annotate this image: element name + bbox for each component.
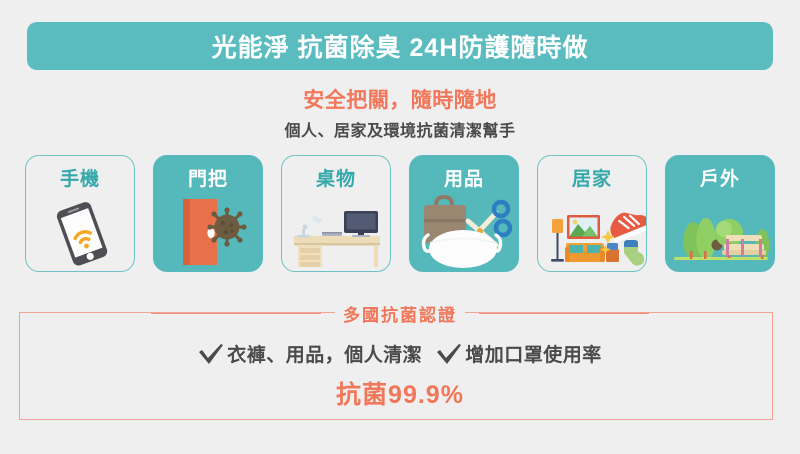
scenario-card-phone[interactable]: 手機 <box>25 155 135 272</box>
scenario-card-desk[interactable]: 桌物 <box>281 155 391 272</box>
check-item-label: 增加口罩使用率 <box>465 340 602 367</box>
desk-computer-icon <box>282 191 391 269</box>
smartphone-wifi-icon <box>26 191 135 269</box>
scenario-card-doorknob[interactable]: 門把 <box>153 155 263 272</box>
checkmark-icon <box>198 343 224 365</box>
kill-rate-text: 抗菌99.9% <box>0 375 800 411</box>
banner-title: 光能淨 抗菌除臭 24H防護隨時做 <box>212 28 589 64</box>
scenario-card-label: 用品 <box>410 164 518 191</box>
divider-line-right <box>479 313 649 315</box>
certification-divider-label: 多國抗菌認證 <box>335 301 465 326</box>
scenario-card-label: 桌物 <box>282 164 390 191</box>
scenario-card-label: 戶外 <box>666 164 774 191</box>
scenario-card-outdoor[interactable]: 戶外 <box>665 155 775 272</box>
secondary-subtitle: 個人、居家及環境抗菌清潔幫手 <box>0 117 800 141</box>
checkmark-icon <box>436 343 462 365</box>
usage-scenario-card-row: 手機 門把 <box>25 155 775 272</box>
certification-check-row: 衣褲、用品，個人清潔 增加口罩使用率 <box>0 340 800 367</box>
scenario-card-label: 門把 <box>154 164 262 191</box>
scenario-card-supplies[interactable]: 用品 <box>409 155 519 272</box>
primary-subtitle: 安全把關，隨時隨地 <box>0 84 800 114</box>
living-room-icon <box>538 191 647 269</box>
scenario-card-home[interactable]: 居家 <box>537 155 647 272</box>
bag-mask-scissors-icon <box>410 191 519 269</box>
header-banner: 光能淨 抗菌除臭 24H防護隨時做 <box>27 22 773 70</box>
check-item: 衣褲、用品，個人清潔 <box>198 340 422 367</box>
scenario-card-label: 居家 <box>538 164 646 191</box>
door-germ-icon <box>154 191 263 269</box>
divider-line-left <box>151 313 321 315</box>
check-item: 增加口罩使用率 <box>436 340 602 367</box>
park-bench-trees-icon <box>666 191 775 269</box>
infographic-page: 光能淨 抗菌除臭 24H防護隨時做 安全把關，隨時隨地 個人、居家及環境抗菌清潔… <box>0 0 800 454</box>
check-item-label: 衣褲、用品，個人清潔 <box>227 340 422 367</box>
certification-divider: 多國抗菌認證 <box>0 301 800 326</box>
scenario-card-label: 手機 <box>26 164 134 191</box>
